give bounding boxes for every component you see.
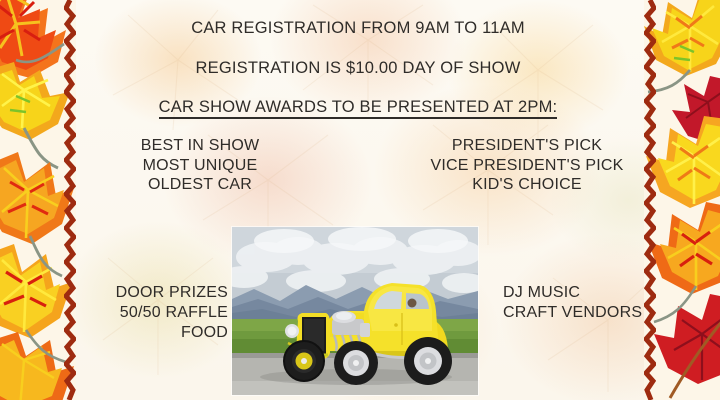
car-show-flyer: CAR REGISTRATION FROM 9AM TO 11AM REGIST… [0, 0, 720, 400]
left-leaf-border [0, 0, 76, 400]
hot-rod-photo [232, 227, 478, 395]
awards-list-left: BEST IN SHOW MOST UNIQUE OLDEST CAR [90, 136, 310, 195]
awards-list-right: PRESIDENT'S PICK VICE PRESIDENT'S PICK K… [392, 136, 662, 195]
awards-heading: CAR SHOW AWARDS TO BE PRESENTED AT 2PM: [68, 98, 648, 117]
registration-time-text: CAR REGISTRATION FROM 9AM TO 11AM [68, 19, 648, 38]
awards-heading-underlined-text: CAR SHOW AWARDS TO BE PRESENTED AT 2PM: [159, 98, 558, 119]
registration-fee-text: REGISTRATION IS $10.00 DAY OF SHOW [68, 59, 648, 78]
extras-list-left: DOOR PRIZES 50/50 RAFFLE FOOD [78, 283, 228, 343]
hot-rod-photo-illustration [232, 227, 478, 395]
right-leaf-border [644, 0, 720, 400]
extras-list-right: DJ MUSIC CRAFT VENDORS [503, 283, 663, 323]
